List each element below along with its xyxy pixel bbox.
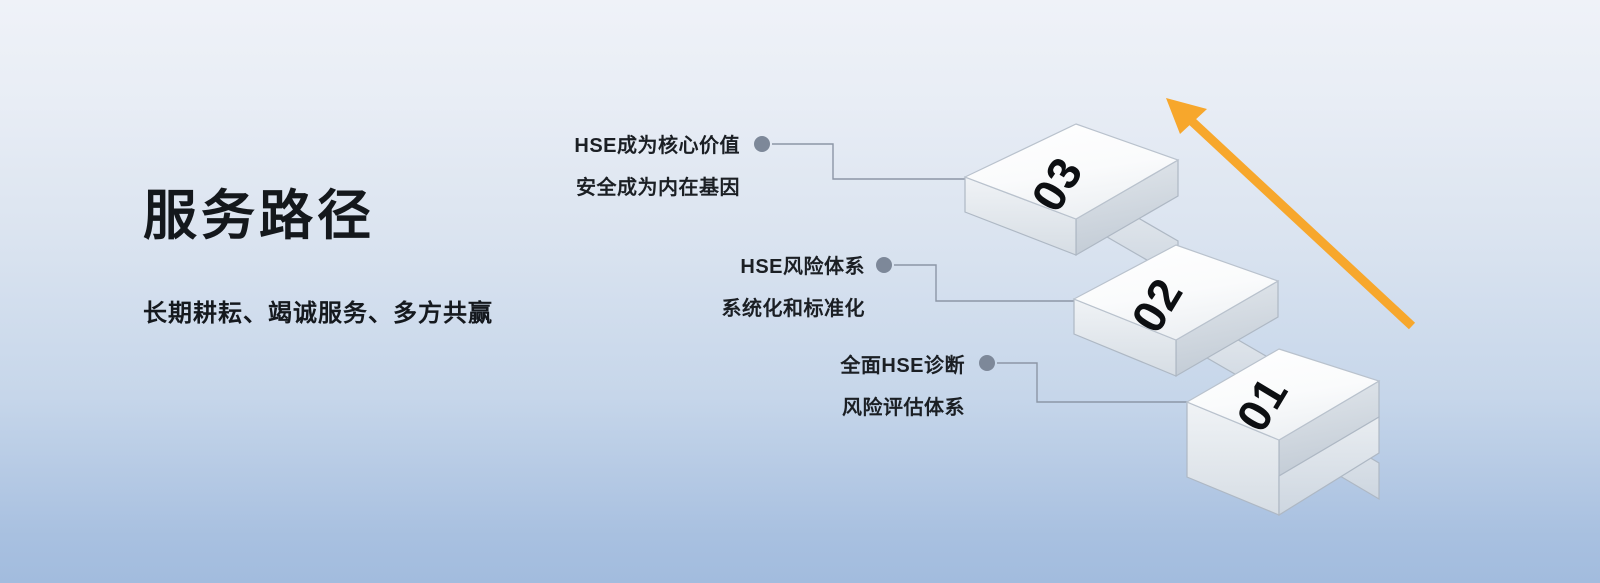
step-block-01[interactable]: 01	[1187, 349, 1379, 515]
connector-03	[754, 136, 975, 179]
step-block-03[interactable]: 03	[965, 124, 1178, 278]
connector-02	[876, 257, 1074, 301]
connector-02-dot	[876, 257, 892, 273]
isometric-staircase-diagram: 03 02 01	[0, 0, 1600, 583]
connector-03-dot	[754, 136, 770, 152]
connector-03-path	[772, 144, 975, 179]
connector-02-path	[894, 265, 1074, 301]
slide-canvas: 服务路径 长期耕耘、竭诚服务、多方共赢 HSE成为核心价值 安全成为内在基因 H…	[0, 0, 1600, 583]
connector-01-dot	[979, 355, 995, 371]
